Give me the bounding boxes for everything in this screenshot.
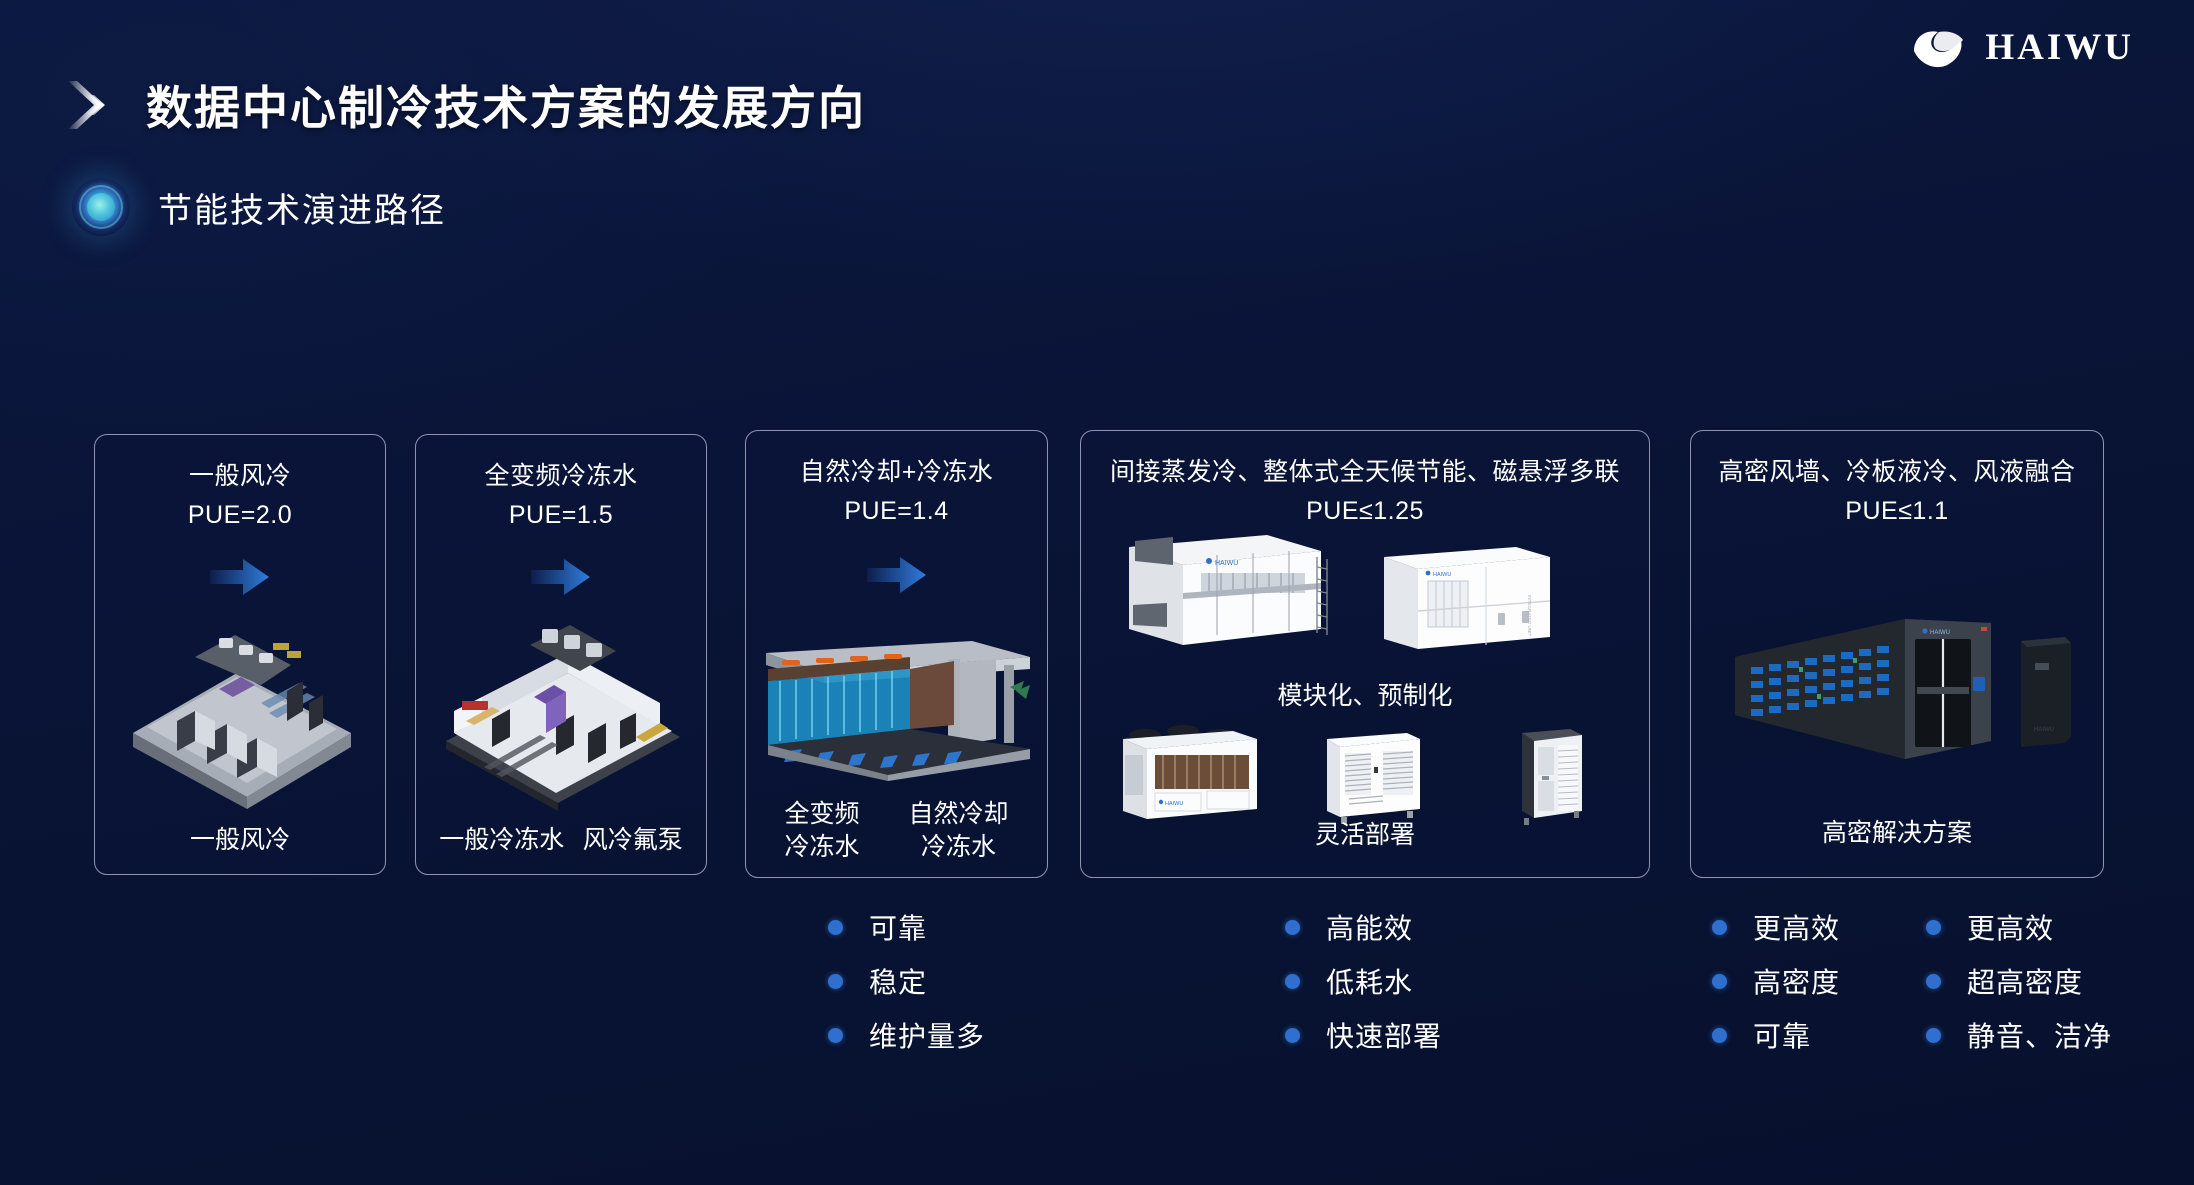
bullet-label: 稳定 bbox=[869, 961, 927, 1001]
card-2-image bbox=[430, 621, 694, 811]
card-4-image-evaporative-unit: HAIWU bbox=[1117, 517, 1332, 652]
card-2-footers: 一般冷冻水 风冷氟泵 bbox=[416, 824, 706, 857]
svg-text:HAIWU: HAIWU bbox=[1930, 630, 1950, 636]
card-4-title: 间接蒸发冷、整体式全天候节能、磁悬浮多联 bbox=[1110, 458, 1620, 486]
svg-text:HAIWU: HAIWU bbox=[1165, 801, 1183, 807]
stage-card-2[interactable]: 全变频冷冻水 PUE=1.5 bbox=[415, 434, 707, 875]
progress-arrow-icon bbox=[867, 555, 927, 595]
svg-text:INTEGRATED UNIT: INTEGRATED UNIT bbox=[1527, 595, 1532, 636]
card-5-image: HAIWU HAIWU bbox=[1729, 609, 2077, 769]
card-2-heading: 全变频冷冻水 PUE=1.5 bbox=[416, 457, 706, 535]
card-3-footer-0: 全变频 冷冻水 bbox=[784, 798, 859, 863]
stage-card-3[interactable]: 自然冷却+冷冻水 PUE=1.4 bbox=[745, 430, 1048, 878]
bullet-item: 超高密度 bbox=[1926, 954, 2112, 1008]
bullet-column-left: 更高效 高密度 可靠 bbox=[1712, 900, 1840, 1062]
svg-text:HAIWU: HAIWU bbox=[2034, 727, 2054, 733]
bullet-label: 静音、洁净 bbox=[1967, 1015, 2112, 1055]
section-subtitle: 节能技术演进路径 bbox=[158, 183, 446, 232]
bullet-item: 高密度 bbox=[1712, 954, 1840, 1008]
bullet-dot-icon bbox=[1712, 1028, 1727, 1043]
bullet-label: 可靠 bbox=[1753, 1015, 1811, 1055]
card-4-image-outdoor-unit bbox=[1321, 727, 1426, 827]
bullet-label: 快速部署 bbox=[1326, 1015, 1442, 1055]
card-4-mid-label: 模块化、预制化 bbox=[1081, 676, 1649, 712]
card-5-footers: 高密解决方案 bbox=[1691, 817, 2103, 850]
bullet-dot-icon bbox=[1712, 920, 1727, 935]
bullet-item: 快速部署 bbox=[1285, 1008, 1442, 1062]
double-chevron-icon bbox=[64, 75, 120, 135]
svg-text:HAIWU: HAIWU bbox=[1433, 572, 1451, 578]
svg-text:HAIWU: HAIWU bbox=[1215, 560, 1238, 567]
bullet-item: 维护量多 bbox=[828, 1008, 985, 1062]
card-1-title: 一般风冷 bbox=[189, 462, 291, 490]
bullet-dot-icon bbox=[1285, 1028, 1300, 1043]
section-subtitle-row: 节能技术演进路径 bbox=[72, 178, 446, 236]
card-5-heading: 高密风墙、冷板液冷、风液融合 PUE≤1.1 bbox=[1691, 453, 2103, 531]
bullet-column-right: 更高效 超高密度 静音、洁净 bbox=[1926, 900, 2112, 1062]
bullet-label: 更高效 bbox=[1753, 907, 1840, 947]
card-3-footer-1: 自然冷却 冷冻水 bbox=[908, 798, 1008, 863]
card-3-footer-0-line2: 冷冻水 bbox=[784, 831, 859, 864]
bullet-group-1: 可靠 稳定 维护量多 bbox=[828, 900, 985, 1062]
card-1-pue: PUE=2.0 bbox=[95, 496, 385, 535]
bullet-dot-icon bbox=[1285, 974, 1300, 989]
bullet-dot-icon bbox=[1926, 920, 1941, 935]
card-5-pue: PUE≤1.1 bbox=[1691, 492, 2103, 531]
slide-canvas: HAIWU 数据中心制冷技术方案的发展方向 节能技术演进路径 一般风冷 PUE=… bbox=[0, 0, 2194, 1185]
card-2-footer-0: 一般冷冻水 bbox=[439, 824, 564, 857]
card-3-footers: 全变频 冷冻水 自然冷却 冷冻水 bbox=[746, 798, 1047, 863]
progress-arrow-icon bbox=[210, 557, 270, 597]
bullet-item: 低耗水 bbox=[1285, 954, 1442, 1008]
bullet-item: 更高效 bbox=[1712, 900, 1840, 954]
bullet-dot-icon bbox=[1712, 974, 1727, 989]
card-4-image-precision-ac bbox=[1516, 723, 1588, 827]
progress-arrow-icon bbox=[531, 557, 591, 597]
card-3-image bbox=[758, 629, 1038, 799]
bullet-label: 低耗水 bbox=[1326, 961, 1413, 1001]
card-4-bottom-label: 灵活部署 bbox=[1081, 819, 1649, 852]
bullet-item: 可靠 bbox=[1712, 1008, 1840, 1062]
bullet-label: 可靠 bbox=[869, 907, 927, 947]
bullet-dot-icon bbox=[1926, 1028, 1941, 1043]
card-3-footer-1-line2: 冷冻水 bbox=[908, 831, 1008, 864]
card-5-title: 高密风墙、冷板液冷、风液融合 bbox=[1718, 458, 2075, 486]
wave-leaf-logo-icon bbox=[1911, 24, 1969, 70]
bullet-item: 更高效 bbox=[1926, 900, 2112, 954]
card-3-title: 自然冷却+冷冻水 bbox=[800, 458, 994, 486]
page-title: 数据中心制冷技术方案的发展方向 bbox=[146, 72, 866, 138]
bullet-item: 稳定 bbox=[828, 954, 985, 1008]
bullet-item: 静音、洁净 bbox=[1926, 1008, 2112, 1062]
bullet-item: 可靠 bbox=[828, 900, 985, 954]
stage-card-1[interactable]: 一般风冷 PUE=2.0 bbox=[94, 434, 386, 875]
stage-card-4[interactable]: 间接蒸发冷、整体式全天候节能、磁悬浮多联 PUE≤1.25 bbox=[1080, 430, 1650, 878]
card-2-title: 全变频冷冻水 bbox=[484, 462, 637, 490]
bullet-group-2: 高能效 低耗水 快速部署 bbox=[1285, 900, 1442, 1062]
card-1-image bbox=[111, 617, 371, 817]
card-5-footer-0: 高密解决方案 bbox=[1822, 819, 1972, 847]
card-1-heading: 一般风冷 PUE=2.0 bbox=[95, 457, 385, 535]
card-2-pue: PUE=1.5 bbox=[416, 496, 706, 535]
bullet-label: 维护量多 bbox=[869, 1015, 985, 1055]
bullet-dot-icon bbox=[1285, 920, 1300, 935]
card-2-footer-1: 风冷氟泵 bbox=[583, 824, 683, 857]
card-3-footer-1-line1: 自然冷却 bbox=[908, 798, 1008, 831]
card-3-pue: PUE=1.4 bbox=[746, 492, 1047, 531]
card-3-footer-0-line1: 全变频 bbox=[784, 798, 859, 831]
bullet-dot-icon bbox=[828, 920, 843, 935]
glow-orb-icon bbox=[72, 178, 130, 236]
bullet-label: 更高效 bbox=[1967, 907, 2054, 947]
bullet-group-3: 更高效 高密度 可靠 更高效 超高密度 静音、洁净 bbox=[1712, 900, 2112, 1062]
bullet-label: 高能效 bbox=[1326, 907, 1413, 947]
bullet-label: 超高密度 bbox=[1967, 961, 2083, 1001]
bullet-dot-icon bbox=[1926, 974, 1941, 989]
bullet-item: 高能效 bbox=[1285, 900, 1442, 954]
brand-logo: HAIWU bbox=[1911, 24, 2134, 70]
stage-card-5[interactable]: 高密风墙、冷板液冷、风液融合 PUE≤1.1 bbox=[1690, 430, 2104, 878]
card-1-footers: 一般风冷 bbox=[95, 824, 385, 857]
page-title-row: 数据中心制冷技术方案的发展方向 bbox=[64, 72, 866, 138]
card-4-image-allweather-unit: HAIWU INTEGRATED UNIT bbox=[1376, 539, 1556, 655]
bullet-dot-icon bbox=[828, 974, 843, 989]
bullet-dot-icon bbox=[828, 1028, 843, 1043]
card-3-heading: 自然冷却+冷冻水 PUE=1.4 bbox=[746, 453, 1047, 531]
bullet-label: 高密度 bbox=[1753, 961, 1840, 1001]
brand-name: HAIWU bbox=[1985, 29, 2134, 66]
card-1-footer-0: 一般风冷 bbox=[190, 826, 290, 854]
